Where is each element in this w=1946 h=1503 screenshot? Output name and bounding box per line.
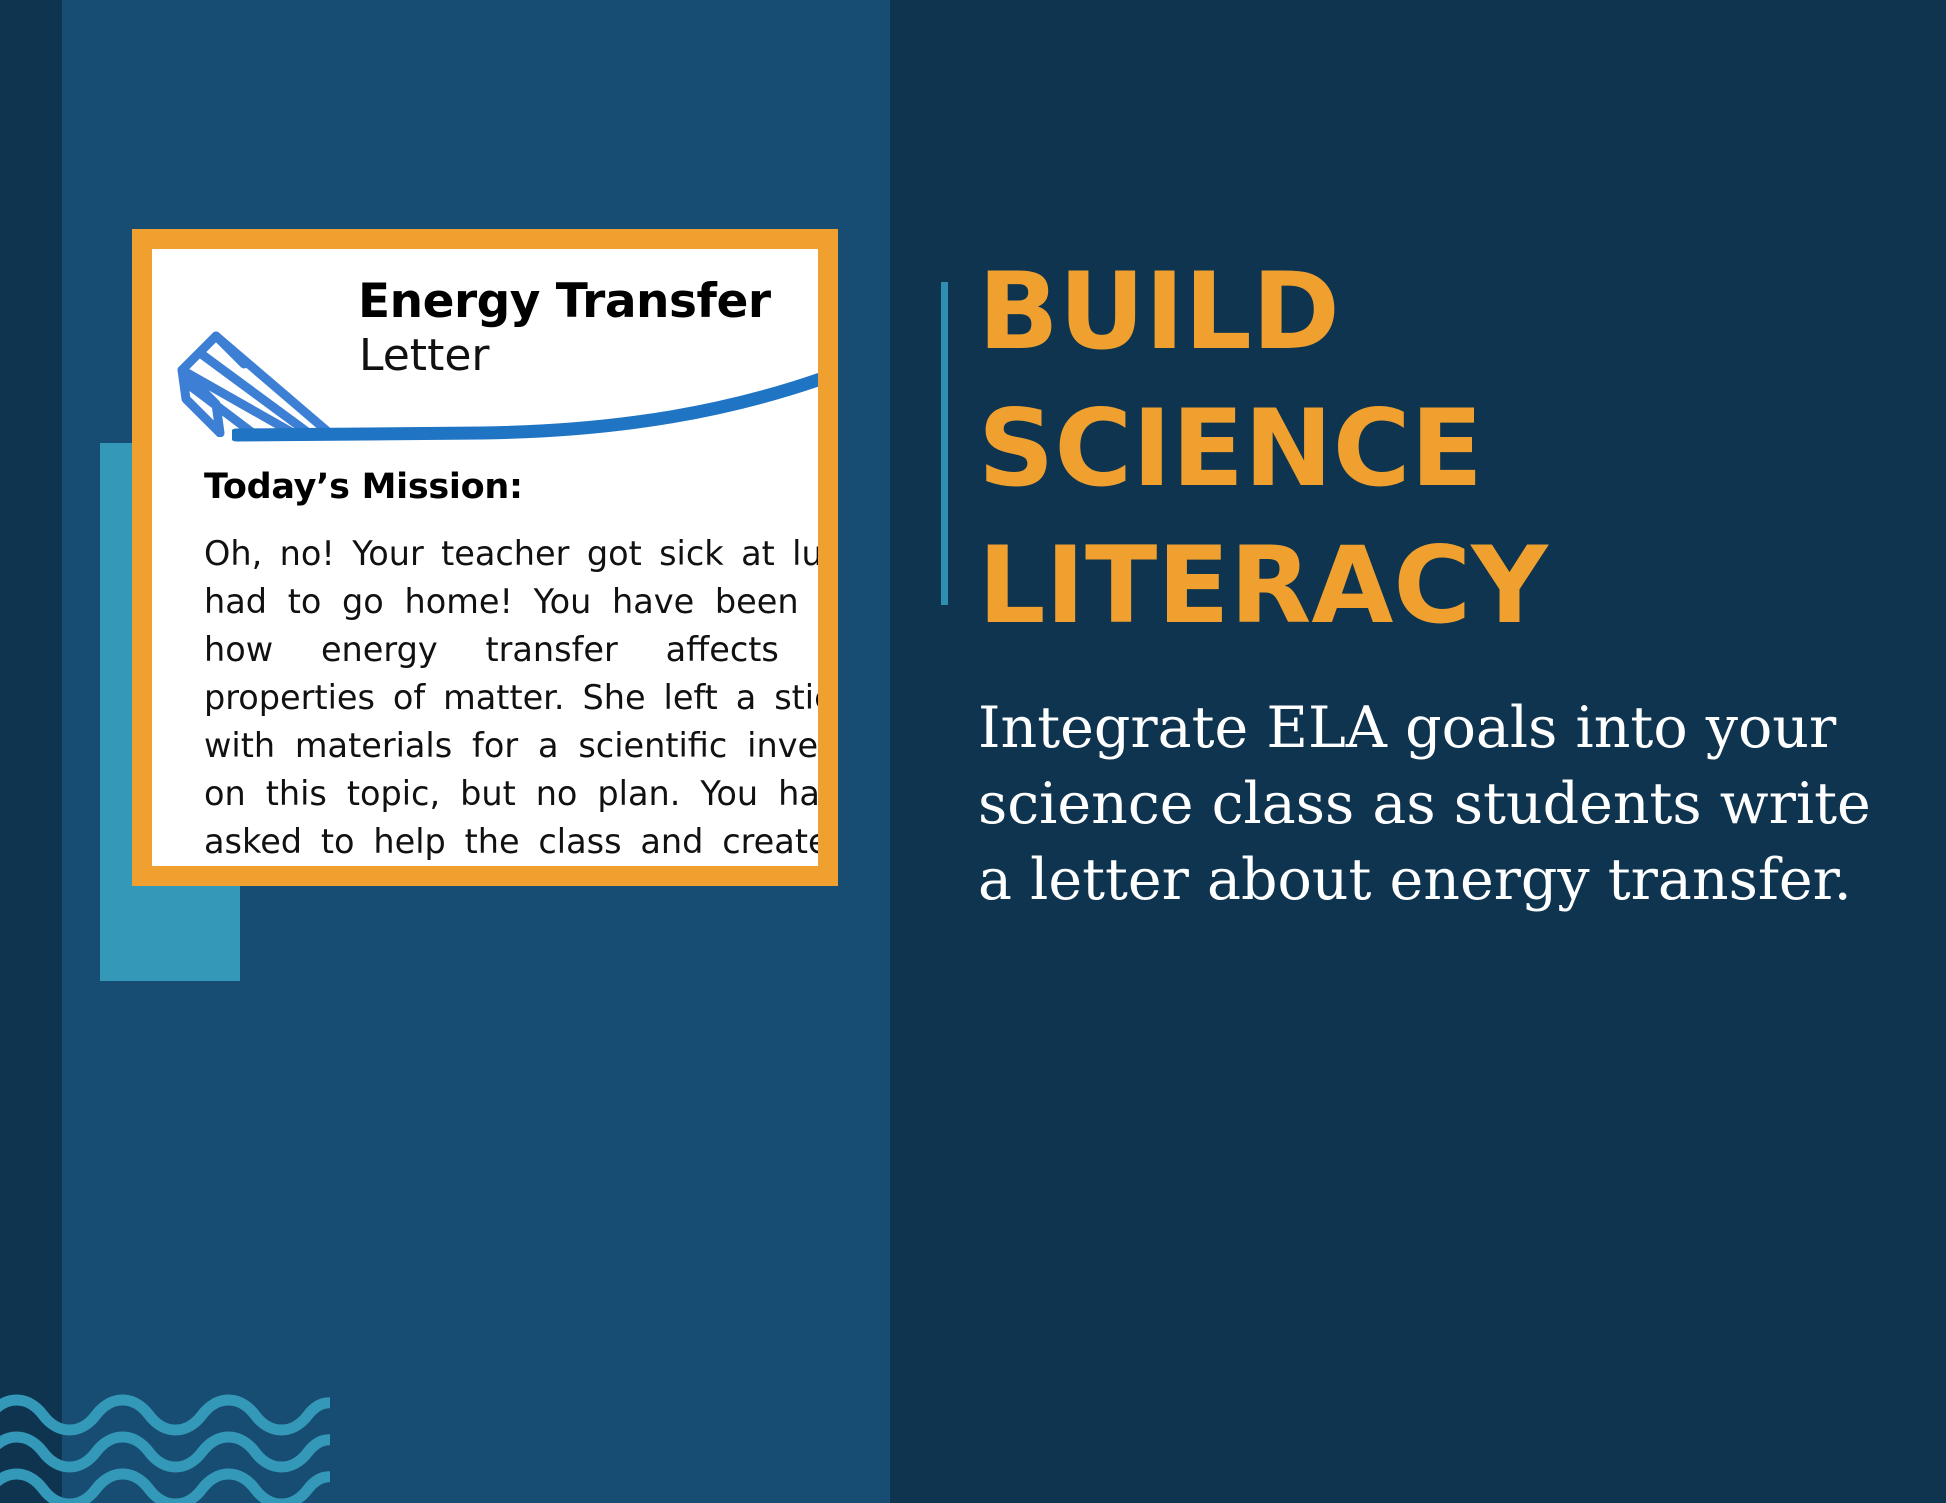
- poster-canvas: Energy Transfer Letter Today’s Mission: …: [0, 0, 1946, 1503]
- underline-swoosh-icon: [232, 369, 818, 449]
- headline-line-1: BUILD: [978, 243, 1908, 380]
- headline-line-2: SCIENCE: [978, 380, 1908, 517]
- document-subtitle: Letter: [359, 330, 489, 381]
- mission-body-text: Oh, no! Your teacher got sick at lunch a…: [204, 530, 818, 866]
- document-card[interactable]: Energy Transfer Letter Today’s Mission: …: [132, 229, 838, 886]
- mission-label: Today’s Mission:: [204, 467, 523, 507]
- headline-accent-rule: [941, 282, 948, 605]
- document-title: Energy Transfer: [358, 274, 771, 329]
- headline-line-3: LITERACY: [978, 517, 1908, 654]
- background-left-dark-strip: [0, 0, 62, 1503]
- subheadline-text: Integrate ELA goals into your science cl…: [978, 690, 1908, 918]
- headline: BUILD SCIENCE LITERACY: [978, 243, 1908, 654]
- document-page: Energy Transfer Letter Today’s Mission: …: [152, 249, 818, 866]
- wave-decoration: [0, 1382, 330, 1503]
